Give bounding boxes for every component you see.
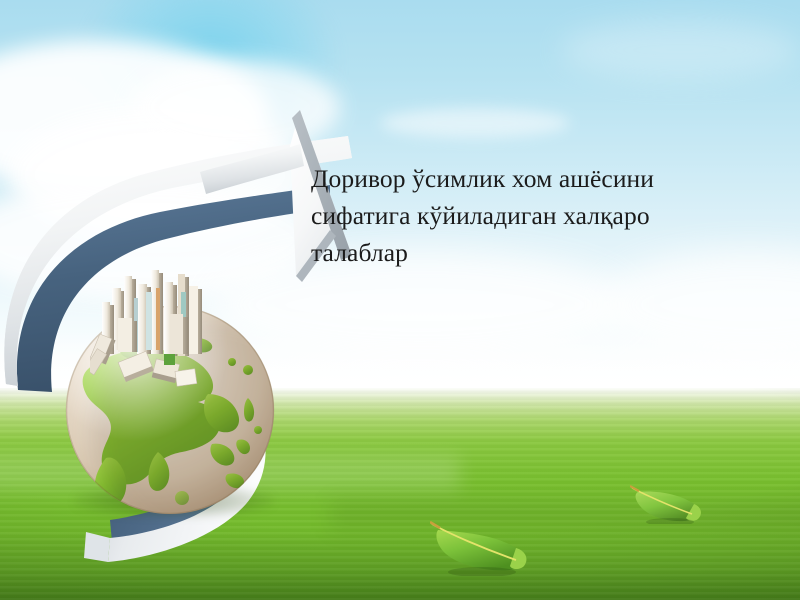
city-towers [90, 270, 202, 386]
title-text-block: Доривор ўсимлик хом ашёсини сифатига кўй… [311, 160, 771, 271]
cloud-icon [560, 20, 800, 80]
leaf-stem [630, 486, 639, 491]
leaf-icon [630, 482, 708, 524]
city-skyline-icon [90, 258, 240, 398]
green-building [164, 354, 175, 365]
leaf-icon [430, 520, 540, 576]
title-line-1: Доривор ўсимлик хом ашёсини [311, 160, 771, 197]
globe-group [56, 288, 286, 518]
title-line-3: талаблар [311, 234, 771, 271]
title-line-2: сифатига кўйиладиган халқаро [311, 197, 771, 234]
leaf-stem [430, 522, 440, 528]
cloud-icon [130, 60, 340, 155]
slide-canvas: Доривор ўсимлик хом ашёсини сифатига кўй… [0, 0, 800, 600]
cloud-icon [380, 108, 570, 138]
